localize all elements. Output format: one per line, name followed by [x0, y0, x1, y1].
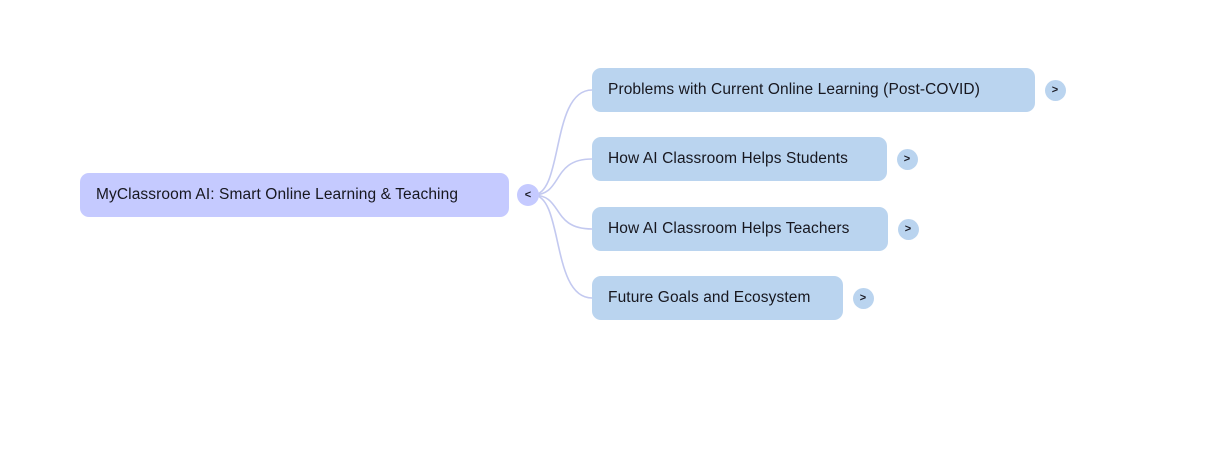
mindmap-root-node[interactable]: MyClassroom AI: Smart Online Learning & … [80, 173, 509, 217]
branch-expand-toggle[interactable]: > [897, 149, 918, 170]
chevron-left-icon: < [525, 190, 531, 201]
mindmap-branch-node[interactable]: How AI Classroom Helps Students [592, 137, 887, 181]
mindmap-connector [533, 195, 592, 298]
mindmap-branch-label: How AI Classroom Helps Teachers [608, 221, 849, 237]
chevron-right-icon: > [1052, 85, 1058, 96]
branch-expand-toggle[interactable]: > [898, 219, 919, 240]
mindmap-branch-node[interactable]: Problems with Current Online Learning (P… [592, 68, 1035, 112]
branch-expand-toggle[interactable]: > [1045, 80, 1066, 101]
root-collapse-toggle[interactable]: < [517, 184, 539, 206]
mindmap-branch-label: How AI Classroom Helps Students [608, 151, 848, 167]
chevron-right-icon: > [905, 224, 911, 235]
mindmap-connector [533, 90, 592, 195]
branch-expand-toggle[interactable]: > [853, 288, 874, 309]
mindmap-branch-label: Problems with Current Online Learning (P… [608, 82, 980, 98]
mindmap-root-label: MyClassroom AI: Smart Online Learning & … [96, 187, 458, 203]
mindmap-branch-node[interactable]: How AI Classroom Helps Teachers [592, 207, 888, 251]
chevron-right-icon: > [904, 154, 910, 165]
mindmap-canvas[interactable]: MyClassroom AI: Smart Online Learning & … [0, 0, 1222, 459]
mindmap-connector [533, 195, 592, 229]
mindmap-branch-label: Future Goals and Ecosystem [608, 290, 810, 306]
mindmap-connector [533, 159, 592, 195]
chevron-right-icon: > [860, 293, 866, 304]
mindmap-branch-node[interactable]: Future Goals and Ecosystem [592, 276, 843, 320]
